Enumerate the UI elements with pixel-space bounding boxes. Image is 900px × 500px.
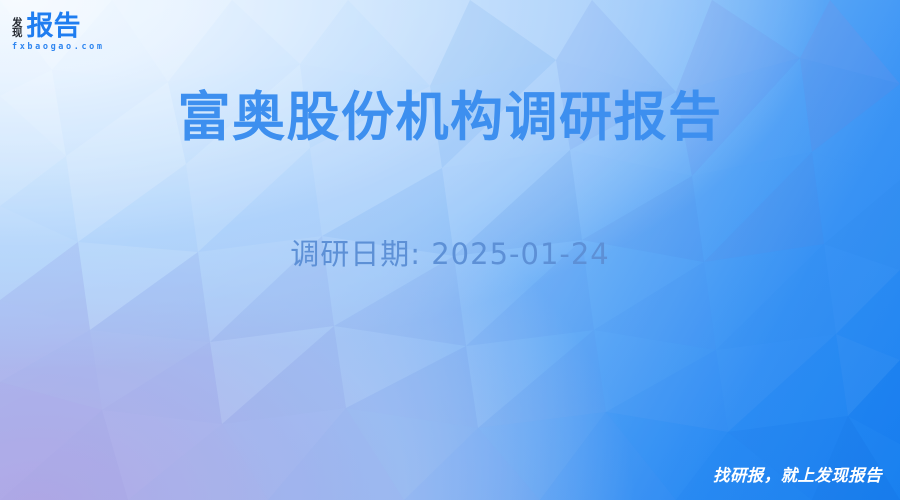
title-block: 富奥股份机构调研报告 xyxy=(0,88,900,147)
report-cover-slide: 发 现 报告 fxbaogao.com 富奥股份机构调研报告 调研日期: 202… xyxy=(0,0,900,500)
subtitle-survey-date: 调研日期: 2025-01-24 xyxy=(0,231,900,273)
page-title: 富奥股份机构调研报告 xyxy=(0,88,900,147)
logo-wordmark-row: 发 现 报告 xyxy=(12,10,132,40)
logo-char-xian: 现 xyxy=(12,28,23,39)
site-logo[interactable]: 发 现 报告 fxbaogao.com xyxy=(12,10,132,52)
logo-stacked-chars: 发 现 xyxy=(12,18,23,40)
footer-slogan: 找研报，就上发现报告 xyxy=(713,462,882,486)
logo-wordmark: 报告 xyxy=(27,13,81,40)
logo-domain-text: fxbaogao.com xyxy=(12,42,132,52)
